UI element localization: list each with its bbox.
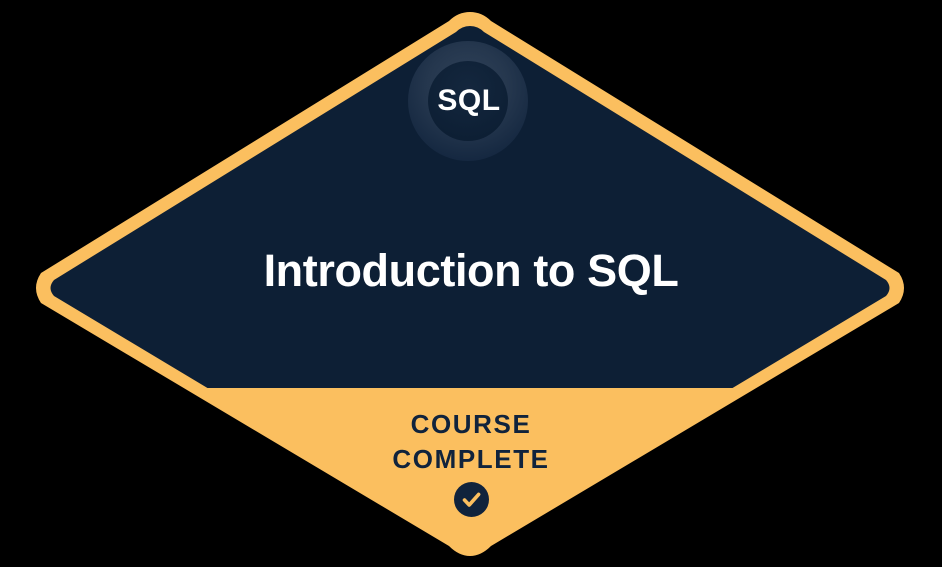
course-completion-badge[interactable]: SQL Introduction to SQL COURSE COMPLETE	[0, 0, 942, 567]
badge-diamond-graphic	[0, 0, 942, 567]
sql-chip-icon	[408, 41, 528, 161]
